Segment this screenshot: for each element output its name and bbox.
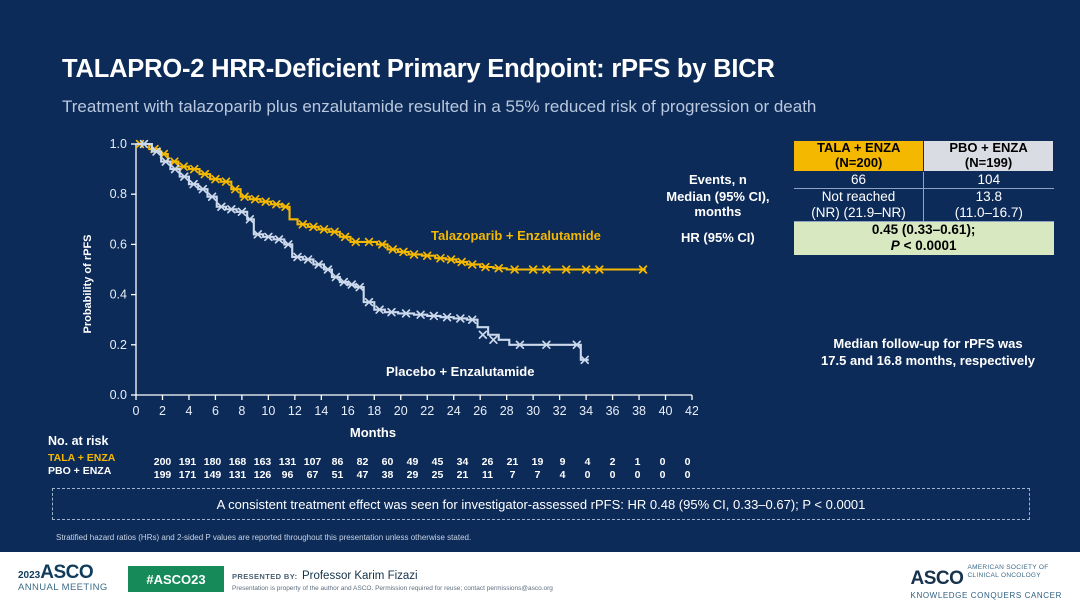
curve-label-placebo: Placebo + Enzalutamide <box>386 364 534 379</box>
svg-text:28: 28 <box>500 404 514 418</box>
cell-hr-line2: P < 0.0001 <box>794 238 1054 254</box>
at-risk-values-pbo: 1991711491311269667514738292521117740000… <box>150 465 700 483</box>
cell-median-pbo: 13.8 (11.0–16.7) <box>924 188 1054 221</box>
svg-text:0.2: 0.2 <box>110 338 127 352</box>
page-subtitle: Treatment with talazoparib plus enzaluta… <box>62 97 816 117</box>
presented-by-block: PRESENTED BY: Professor Karim Fizazi <box>232 566 418 584</box>
x-axis-label: Months <box>48 425 698 440</box>
svg-text:0.8: 0.8 <box>110 187 127 201</box>
asco-footer-year: 2023 <box>18 570 40 581</box>
svg-text:18: 18 <box>367 404 381 418</box>
column-header-pbo: PBO + ENZA (N=199) <box>924 141 1054 172</box>
cell-hr-line1: 0.45 (0.33–0.61); <box>794 222 1054 238</box>
cell-hr-p-symbol: P <box>891 238 900 253</box>
cell-median-tala-line1: Not reached <box>794 189 923 205</box>
svg-text:6: 6 <box>212 404 219 418</box>
km-plot-svg: 0.00.20.40.60.81.00246810121416182022242… <box>48 128 698 423</box>
svg-text:14: 14 <box>314 404 328 418</box>
cell-median-tala: Not reached (NR) (21.9–NR) <box>794 188 924 221</box>
column-header-tala-line1: TALA + ENZA <box>794 141 923 156</box>
asco-right-brand: ASCO <box>911 568 964 590</box>
presented-by-label: PRESENTED BY: <box>232 572 298 581</box>
svg-text:42: 42 <box>685 404 698 418</box>
curve-label-talazoparib: Talazoparib + Enzalutamide <box>431 228 601 243</box>
page-title: TALAPRO-2 HRR-Deficient Primary Endpoint… <box>62 55 775 84</box>
cell-hr-value: 0.45 (0.33–0.61); P < 0.0001 <box>794 221 1054 254</box>
asco-footer-meeting: ANNUAL MEETING <box>18 583 108 593</box>
svg-text:36: 36 <box>606 404 620 418</box>
table-row-median: Median (95% CI), months Not reached (NR)… <box>642 188 1054 221</box>
at-risk-title: No. at risk <box>48 434 108 448</box>
svg-text:0.0: 0.0 <box>110 388 127 402</box>
cell-hr-p-value: < 0.0001 <box>900 238 957 253</box>
stats-table: TALA + ENZA (N=200) PBO + ENZA (N=199) E… <box>642 140 1054 255</box>
asco-annual-meeting-logo: 2023ASCO ANNUAL MEETING <box>18 563 108 593</box>
asco-right-subtitle: AMERICAN SOCIETY OFCLINICAL ONCOLOGY <box>967 564 1048 580</box>
callout-box: A consistent treatment effect was seen f… <box>52 488 1030 520</box>
svg-text:10: 10 <box>261 404 275 418</box>
svg-text:0: 0 <box>133 404 140 418</box>
header-spacer <box>642 141 794 172</box>
cell-median-pbo-line2: (11.0–16.7) <box>924 205 1053 221</box>
row-label-events: Events, n <box>642 171 794 188</box>
svg-text:20: 20 <box>394 404 408 418</box>
footnote-text: Stratified hazard ratios (HRs) and 2-sid… <box>56 533 471 542</box>
hashtag-badge: #ASCO23 <box>128 566 224 592</box>
svg-text:30: 30 <box>526 404 540 418</box>
svg-text:22: 22 <box>420 404 434 418</box>
svg-text:4: 4 <box>185 404 192 418</box>
cell-events-pbo: 104 <box>924 171 1054 188</box>
svg-text:0.4: 0.4 <box>110 288 127 302</box>
table-row-events: Events, n 66 104 <box>642 171 1054 188</box>
row-label-median-line1: Median (95% CI), <box>642 190 794 205</box>
callout-text: A consistent treatment effect was seen f… <box>217 497 866 512</box>
row-label-median: Median (95% CI), months <box>642 188 794 221</box>
svg-text:2: 2 <box>159 404 166 418</box>
cell-median-tala-line2: (NR) (21.9–NR) <box>794 205 923 221</box>
svg-text:12: 12 <box>288 404 302 418</box>
presenter-name: Professor Karim Fizazi <box>302 570 418 582</box>
svg-text:38: 38 <box>632 404 646 418</box>
asco-footer-brand: ASCO <box>40 562 93 583</box>
svg-text:24: 24 <box>447 404 461 418</box>
at-risk-label-pbo: PBO + ENZA <box>48 465 146 477</box>
cell-median-pbo-line1: 13.8 <box>924 189 1053 205</box>
median-followup-note: Median follow-up for rPFS was 17.5 and 1… <box>802 336 1054 370</box>
permission-text: Presentation is property of the author a… <box>232 585 553 592</box>
asco-right-sub2: CLINICAL ONCOLOGY <box>967 572 1041 579</box>
column-header-pbo-line1: PBO + ENZA <box>924 141 1053 156</box>
table-row-hr: HR (95% CI) 0.45 (0.33–0.61); P < 0.0001 <box>642 221 1054 254</box>
asco-right-tagline: KNOWLEDGE CONQUERS CANCER <box>911 591 1062 600</box>
svg-text:32: 32 <box>553 404 567 418</box>
column-header-tala: TALA + ENZA (N=200) <box>794 141 924 172</box>
svg-text:26: 26 <box>473 404 487 418</box>
median-followup-line2: 17.5 and 16.8 months, respectively <box>802 353 1054 370</box>
svg-text:0.6: 0.6 <box>110 237 127 251</box>
cell-events-tala: 66 <box>794 171 924 188</box>
at-risk-label-tala: TALA + ENZA <box>48 452 146 464</box>
svg-text:1.0: 1.0 <box>110 137 127 151</box>
asco-right-sub1: AMERICAN SOCIETY OF <box>967 564 1048 571</box>
asco-logo-right: ASCOAMERICAN SOCIETY OFCLINICAL ONCOLOGY… <box>911 564 1062 600</box>
row-label-median-line2: months <box>642 205 794 220</box>
slide-body: TALAPRO-2 HRR-Deficient Primary Endpoint… <box>0 0 1080 552</box>
row-label-hr: HR (95% CI) <box>642 221 794 254</box>
column-header-pbo-line2: (N=199) <box>924 156 1053 171</box>
svg-text:34: 34 <box>579 404 593 418</box>
svg-text:40: 40 <box>659 404 673 418</box>
table-header-row: TALA + ENZA (N=200) PBO + ENZA (N=199) <box>642 141 1054 172</box>
column-header-tala-line2: (N=200) <box>794 156 923 171</box>
km-chart: Probability of rPFS 0.00.20.40.60.81.002… <box>48 128 698 478</box>
slide-footer: 2023ASCO ANNUAL MEETING #ASCO23 PRESENTE… <box>0 552 1080 608</box>
svg-text:16: 16 <box>341 404 355 418</box>
median-followup-line1: Median follow-up for rPFS was <box>802 336 1054 353</box>
svg-text:8: 8 <box>238 404 245 418</box>
